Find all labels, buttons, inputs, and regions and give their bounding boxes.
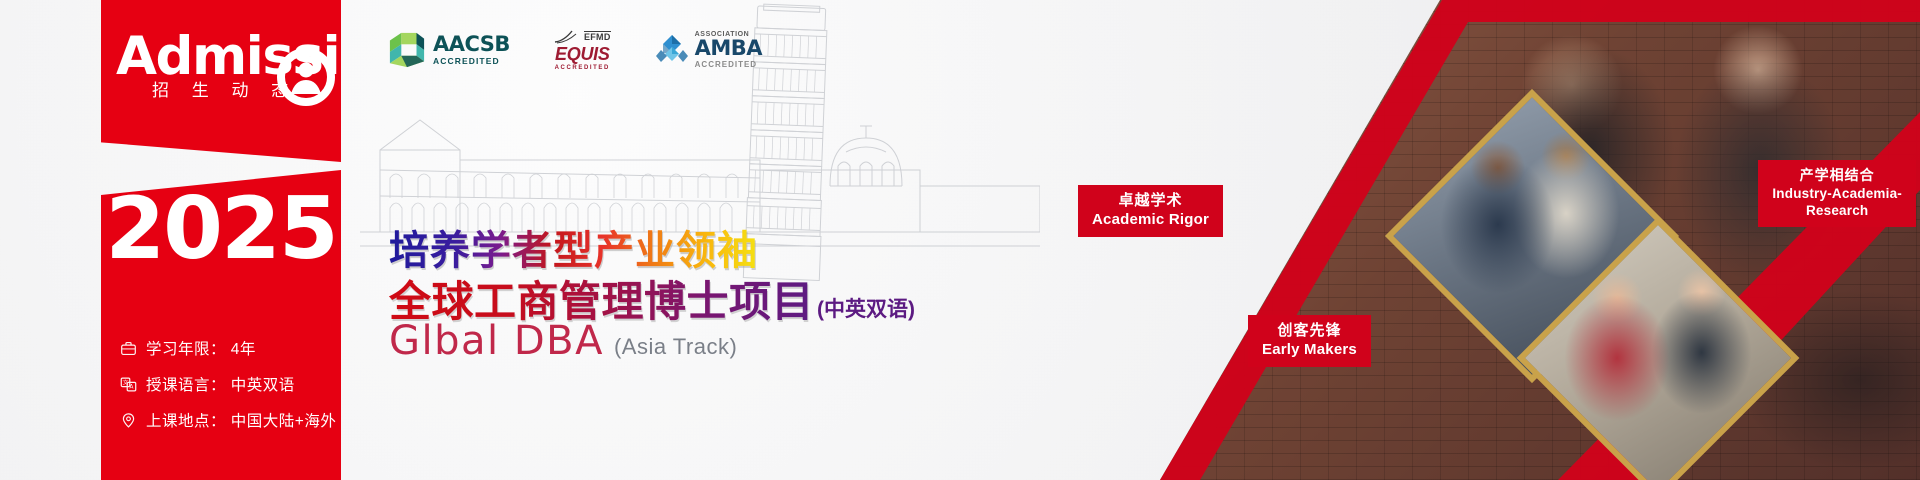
translate-icon: 文 A	[120, 376, 137, 393]
person-in-circle-icon	[277, 48, 335, 106]
map-pin-icon	[120, 412, 137, 429]
headline-program-en-sub: (Asia Track)	[614, 334, 737, 360]
equis-efmd-text: EFMD	[584, 31, 611, 42]
aacsb-name: AACSB	[433, 34, 510, 55]
label-industry-academia-cn: 产学相结合	[1772, 167, 1902, 185]
label-industry-academia-en-1: Industry-Academia-	[1772, 185, 1902, 203]
info-location-text: 上课地点： 中国大陆+海外	[146, 409, 336, 431]
info-row-duration: 学习年限： 4年	[120, 330, 352, 366]
label-academic-rigor-cn: 卓越学术	[1092, 192, 1209, 211]
accreditation-amba: ASSOCIATION AMBA ACCREDITED	[655, 31, 762, 69]
amba-sub: ACCREDITED	[695, 61, 762, 69]
info-duration-text: 学习年限： 4年	[146, 337, 256, 359]
briefcase-icon	[120, 340, 137, 357]
label-early-makers-cn: 创客先锋	[1262, 322, 1357, 341]
label-academic-rigor-en: Academic Rigor	[1092, 211, 1209, 230]
headline-program-cn-sub: (中英双语)	[817, 293, 915, 323]
info-language-text: 授课语言： 中英双语	[146, 373, 295, 395]
photo-collage	[1160, 0, 1920, 480]
amba-diamond-icon	[655, 33, 689, 67]
info-row-location: 上课地点： 中国大陆+海外	[120, 402, 352, 438]
headline-program-en-main: Glbal DBA	[389, 318, 604, 364]
equis-name: EQUIS	[555, 45, 610, 63]
accreditation-aacsb: AACSB ACCREDITED	[388, 31, 510, 69]
program-info-list: 学习年限： 4年 文 A 授课语言： 中英双语 上课地点： 中国大陆+海外	[120, 330, 352, 438]
accreditation-equis: EFMD EQUIS ACCREDITED	[554, 29, 611, 71]
label-industry-academia-en-2: Research	[1772, 202, 1902, 220]
admission-logo: Admissi 招 生 动 态	[108, 30, 358, 115]
equis-swoosh-icon	[554, 29, 580, 44]
label-early-makers: 创客先锋 Early Makers	[1248, 315, 1371, 367]
label-industry-academia: 产学相结合 Industry-Academia- Research	[1758, 160, 1916, 227]
amba-name: AMBA	[695, 38, 762, 59]
aacsb-cube-icon	[388, 31, 426, 69]
equis-sub: ACCREDITED	[555, 65, 610, 71]
year-2025: 2025	[101, 186, 341, 272]
admission-logo-chinese: 招 生 动 态	[152, 76, 297, 101]
headline-program-en: Glbal DBA (Asia Track)	[389, 318, 737, 364]
svg-text:A: A	[129, 383, 134, 390]
label-early-makers-en: Early Makers	[1262, 341, 1357, 360]
info-row-language: 文 A 授课语言： 中英双语	[120, 366, 352, 402]
admission-banner: 产学相结合 Industry-Academia- Research 卓越学术 A…	[0, 0, 1920, 480]
aacsb-sub: ACCREDITED	[433, 57, 510, 66]
accreditation-logos: AACSB ACCREDITED EFMD EQUIS ACCREDITED	[388, 24, 762, 76]
label-academic-rigor: 卓越学术 Academic Rigor	[1078, 185, 1223, 237]
